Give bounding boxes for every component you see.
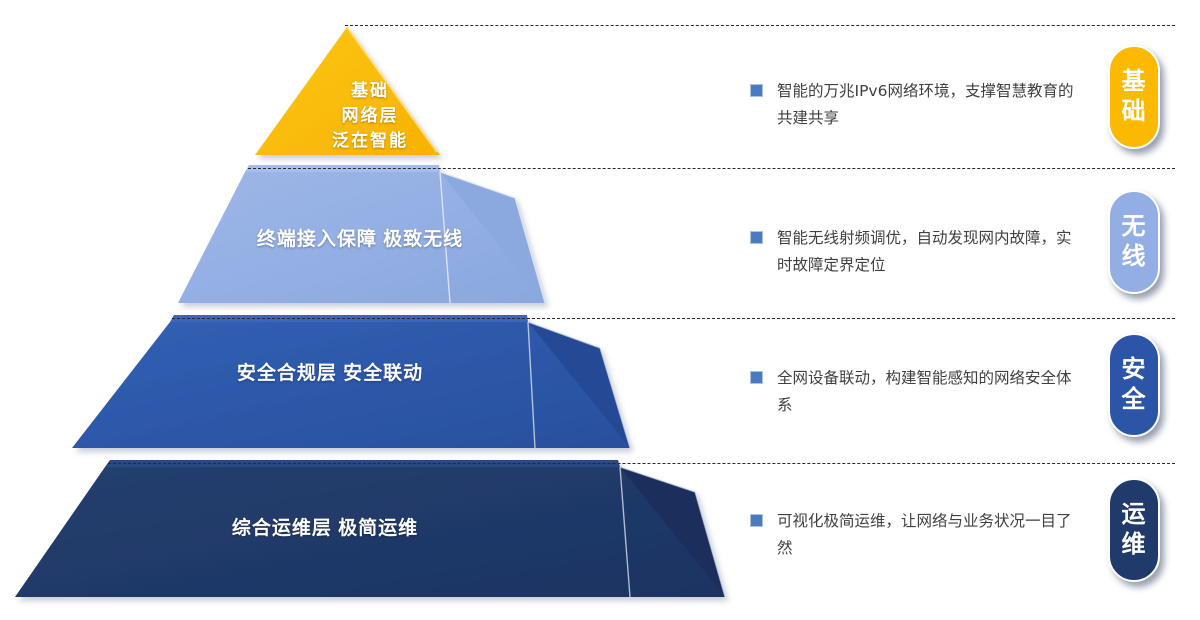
badge-level-3-line-1: 安 [1122, 355, 1147, 385]
badge-level-1-line-1: 基 [1122, 67, 1147, 97]
badge-level-1[interactable]: 基 础 [1108, 45, 1160, 149]
pyramid-level-3[interactable] [72, 315, 630, 448]
badge-level-4[interactable]: 运 维 [1108, 478, 1160, 582]
diagram-canvas: 基础 基础 网络层 泛在智能 终端接入保障 极致无线 安全合规层 安全联动 综合… [0, 0, 1200, 620]
pyramid-graphic [0, 0, 800, 620]
badge-level-3[interactable]: 安 全 [1108, 333, 1160, 437]
badge-level-2-line-2: 线 [1122, 242, 1147, 272]
badge-level-4-line-2: 维 [1122, 530, 1147, 560]
bullet-square-icon [750, 231, 763, 244]
bullet-square-icon [750, 84, 763, 97]
badge-level-1-line-2: 础 [1122, 97, 1147, 127]
pyramid-level-1[interactable] [255, 27, 440, 155]
badge-level-2-line-1: 无 [1122, 212, 1147, 242]
badge-level-4-line-1: 运 [1122, 500, 1147, 530]
pyramid-level-2[interactable] [178, 165, 545, 303]
description-level-3: 全网设备联动，构建智能感知的网络安全体系 [750, 365, 1080, 419]
bullet-square-icon [750, 514, 763, 527]
description-level-1-text: 智能的万兆IPv6网络环境，支撑智慧教育的共建共享 [777, 78, 1080, 132]
divider-level-2 [248, 168, 1175, 169]
badge-level-3-line-2: 全 [1122, 385, 1147, 415]
divider-level-3 [172, 318, 1175, 319]
bullet-square-icon [750, 371, 763, 384]
divider-level-1 [345, 25, 1175, 26]
description-level-3-text: 全网设备联动，构建智能感知的网络安全体系 [777, 365, 1080, 419]
description-level-2: 智能无线射频调优，自动发现网内故障，实时故障定界定位 [750, 225, 1080, 279]
divider-level-4 [108, 463, 1175, 464]
description-level-4: 可视化极简运维，让网络与业务状况一目了然 [750, 508, 1080, 562]
description-level-4-text: 可视化极简运维，让网络与业务状况一目了然 [777, 508, 1080, 562]
description-level-1: 智能的万兆IPv6网络环境，支撑智慧教育的共建共享 [750, 78, 1080, 132]
pyramid-level-4[interactable] [15, 460, 725, 597]
description-level-2-text: 智能无线射频调优，自动发现网内故障，实时故障定界定位 [777, 225, 1080, 279]
badge-level-2[interactable]: 无 线 [1108, 190, 1160, 294]
